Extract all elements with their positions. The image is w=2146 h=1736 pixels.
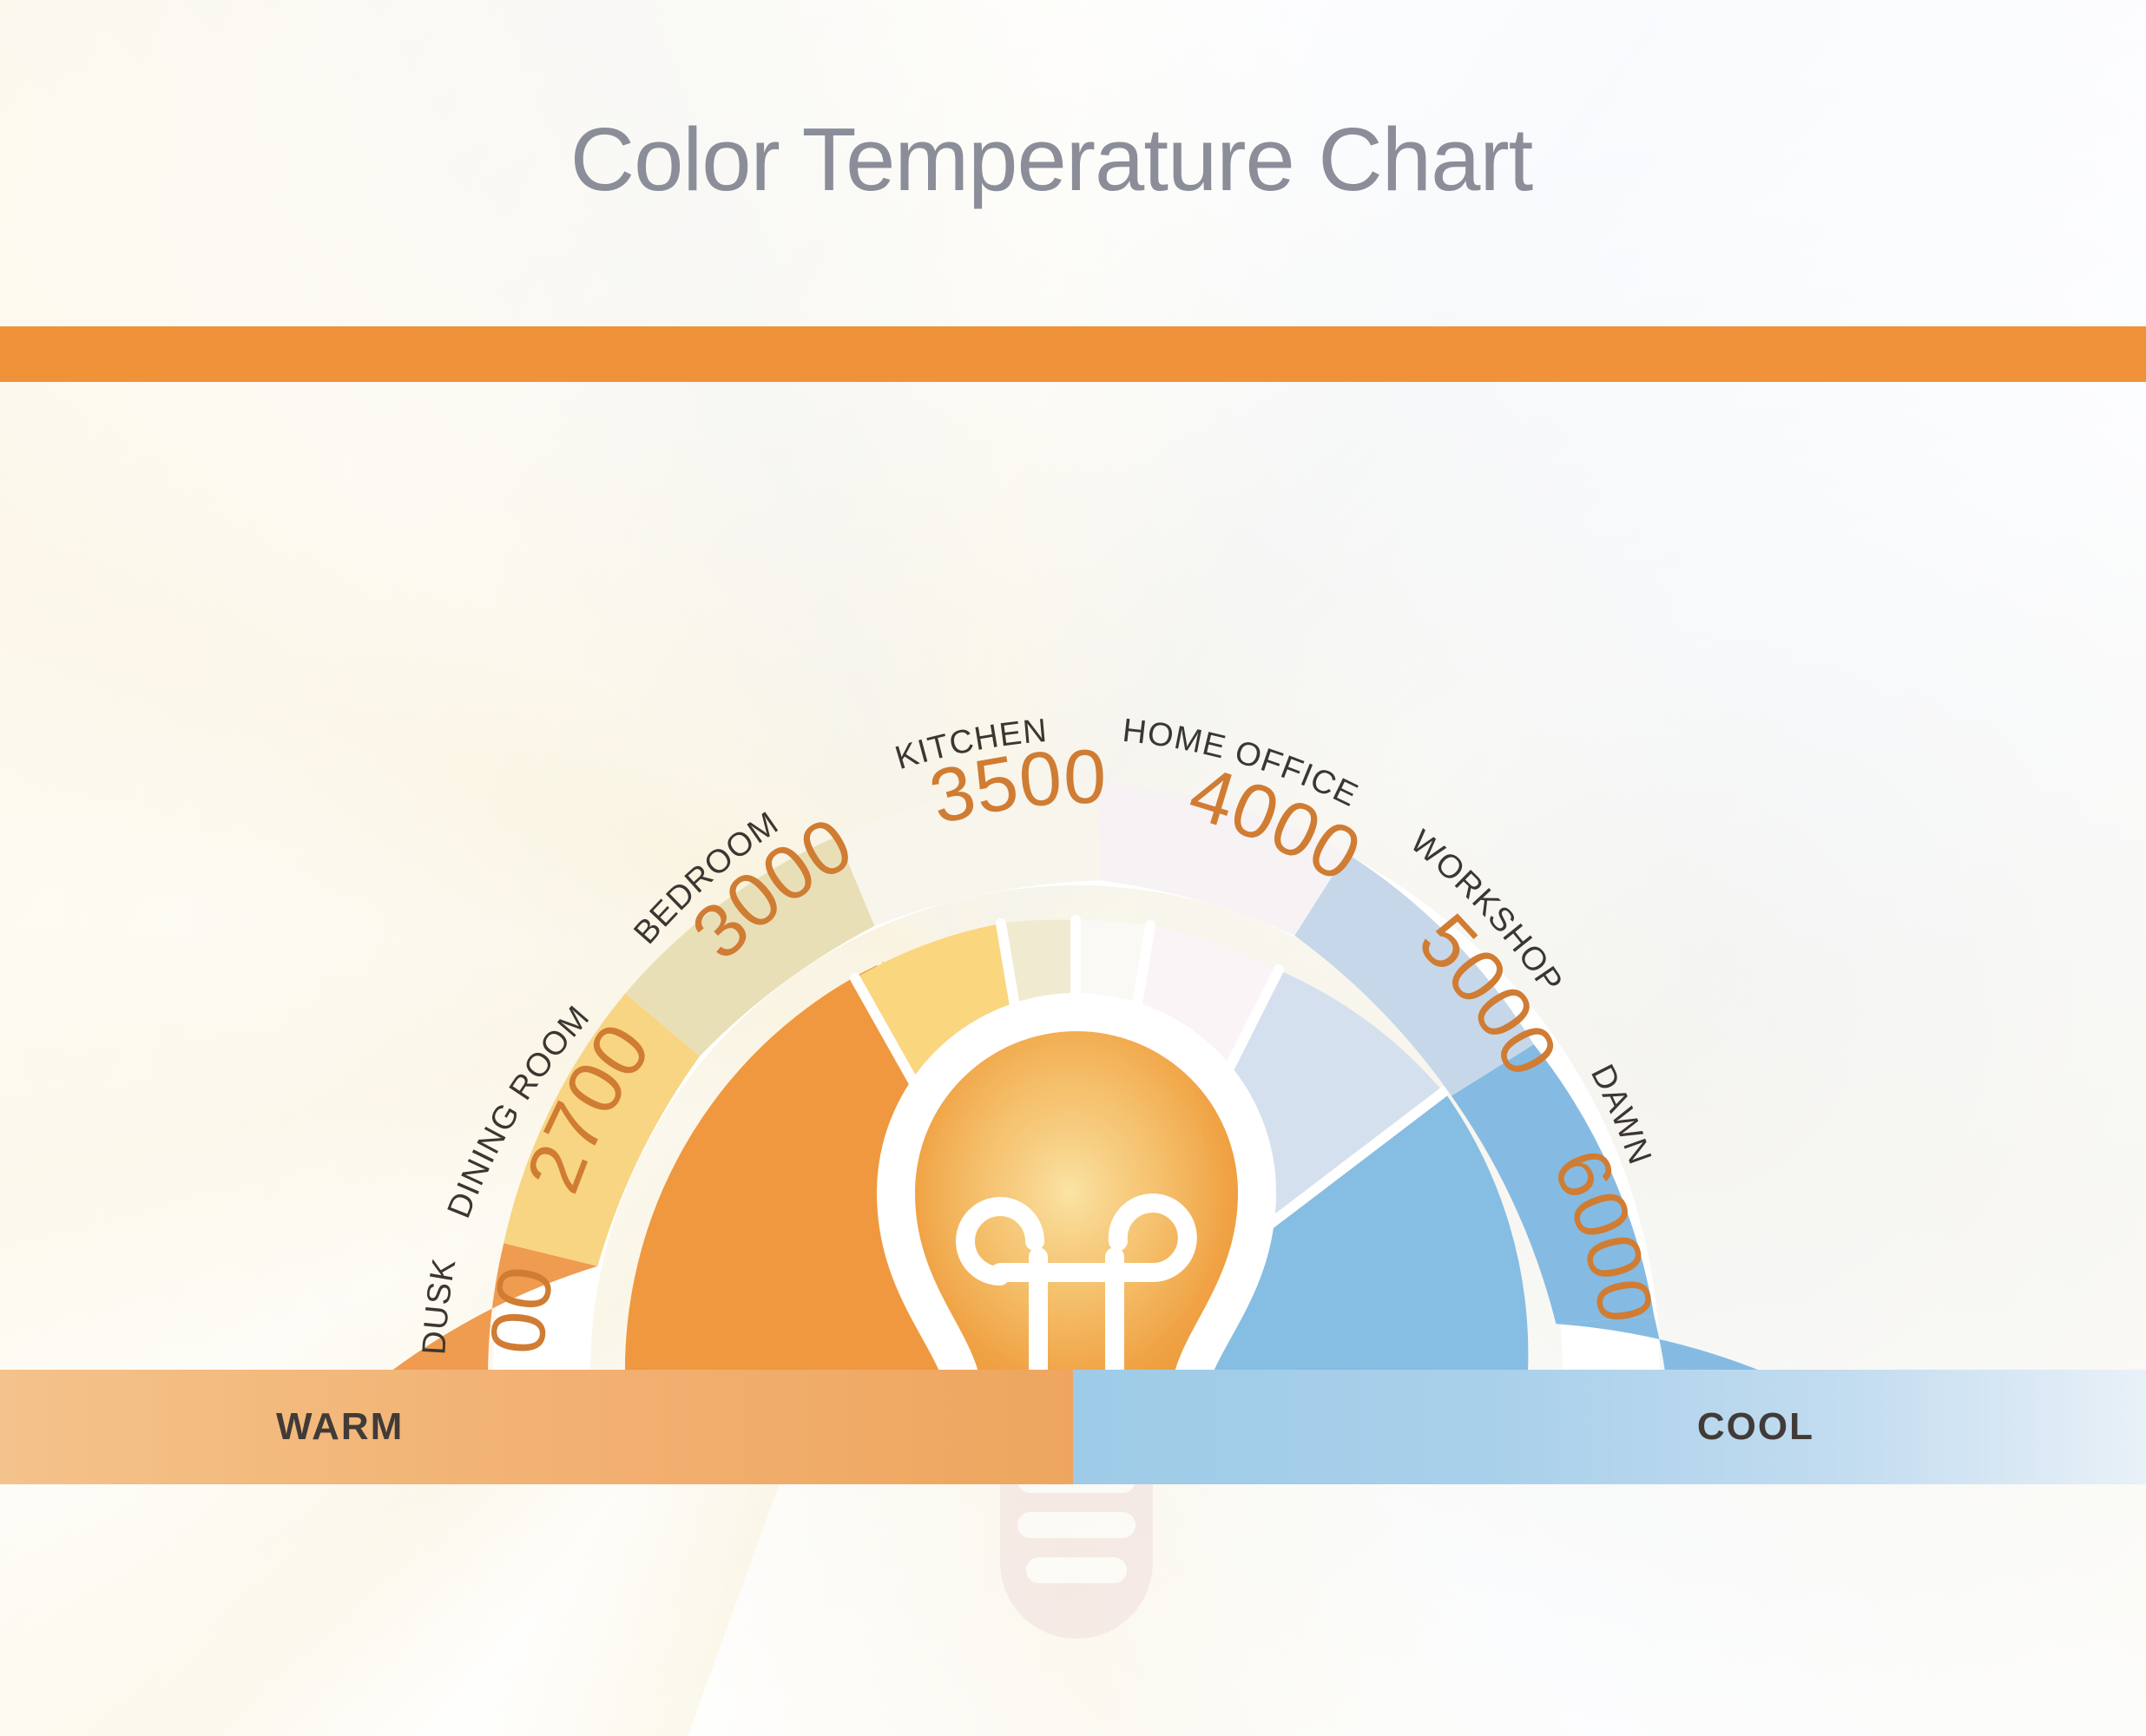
cool-band: COOL — [1073, 1370, 2146, 1484]
warm-band: WARM — [0, 1370, 1073, 1484]
light-bulb-icon — [896, 1012, 1257, 1639]
warm-cool-band: WARM COOL — [0, 1370, 2146, 1484]
warm-label: WARM — [276, 1405, 404, 1449]
cool-label: COOL — [1697, 1405, 1814, 1449]
